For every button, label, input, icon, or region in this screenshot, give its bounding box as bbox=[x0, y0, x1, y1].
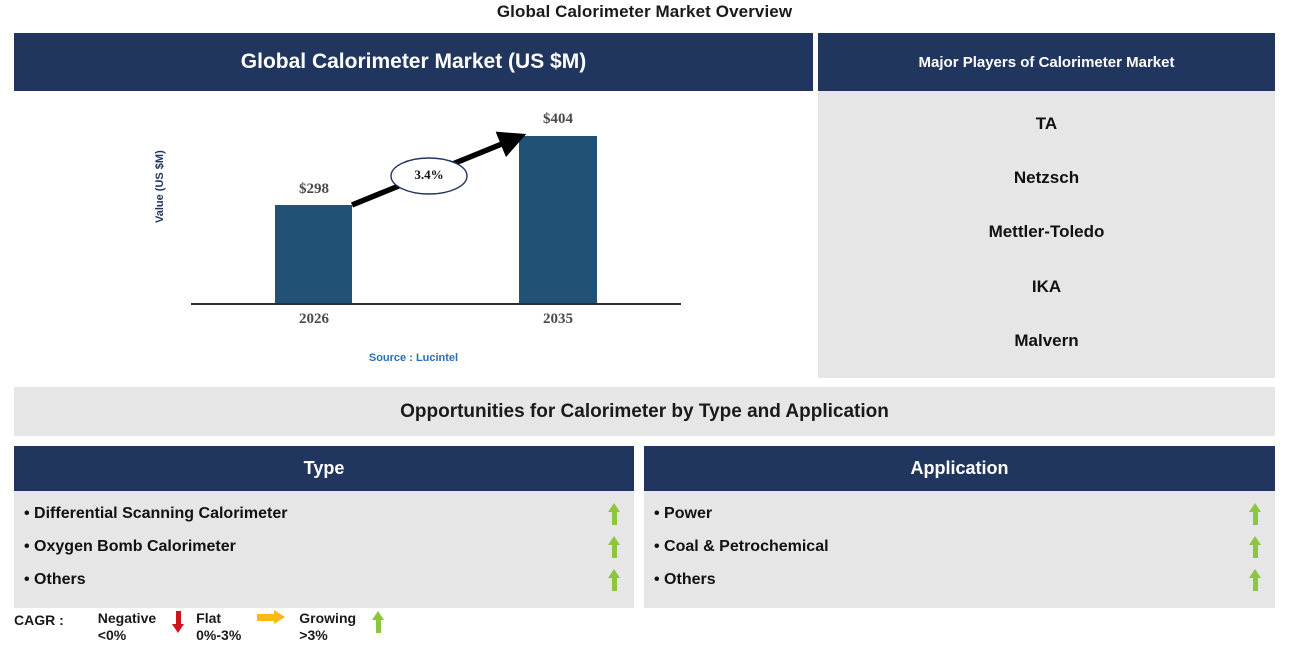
list-item: Netzsch bbox=[1014, 168, 1079, 188]
arrow-up-icon bbox=[372, 610, 384, 637]
arrow-up-icon bbox=[1249, 535, 1261, 559]
bar-value-2026: $298 bbox=[264, 181, 364, 198]
row-label: • Others bbox=[654, 571, 716, 589]
legend-text-growing: Growing >3% bbox=[299, 610, 356, 644]
type-table: Type • Differential Scanning Calorimeter… bbox=[14, 446, 634, 608]
list-item: Malvern bbox=[1014, 331, 1078, 351]
market-chart-body: Value (US $M) $298 $404 2026 2035 3.4% S… bbox=[14, 91, 813, 378]
legend-range: <0% bbox=[98, 627, 156, 644]
row-label: • Others bbox=[24, 571, 86, 589]
legend-text-negative: Negative <0% bbox=[98, 610, 156, 644]
major-players-header: Major Players of Calorimeter Market bbox=[818, 33, 1275, 91]
market-chart-panel: Global Calorimeter Market (US $M) Value … bbox=[14, 33, 813, 378]
application-table-header: Application bbox=[644, 446, 1275, 491]
type-table-body: • Differential Scanning Calorimeter • Ox… bbox=[14, 491, 634, 608]
opportunities-band-title: Opportunities for Calorimeter by Type an… bbox=[14, 387, 1275, 436]
legend-range: >3% bbox=[299, 627, 356, 644]
legend-text-flat: Flat 0%-3% bbox=[196, 610, 241, 644]
x-tick-2035: 2035 bbox=[498, 311, 618, 328]
arrow-up-icon bbox=[608, 535, 620, 559]
table-row: • Differential Scanning Calorimeter bbox=[14, 497, 634, 530]
page-title: Global Calorimeter Market Overview bbox=[0, 2, 1289, 22]
application-table-body: • Power • Coal & Petrochemical • Others bbox=[644, 491, 1275, 608]
major-players-panel: Major Players of Calorimeter Market TA N… bbox=[818, 33, 1275, 378]
legend-item-flat: Flat 0%-3% bbox=[196, 610, 251, 644]
row-label: • Oxygen Bomb Calorimeter bbox=[24, 538, 236, 556]
arrow-down-icon bbox=[172, 610, 184, 637]
bar-2035 bbox=[519, 136, 597, 303]
arrow-up-icon bbox=[608, 502, 620, 526]
y-axis-label: Value (US $M) bbox=[154, 103, 166, 223]
table-row: • Others bbox=[14, 563, 634, 596]
x-tick-2026: 2026 bbox=[254, 311, 374, 328]
legend-range: 0%-3% bbox=[196, 627, 241, 644]
row-label: • Power bbox=[654, 505, 712, 523]
table-row: • Oxygen Bomb Calorimeter bbox=[14, 530, 634, 563]
bar-2026 bbox=[275, 205, 352, 303]
arrow-right-icon bbox=[257, 610, 287, 627]
bar-value-2035: $404 bbox=[508, 111, 608, 128]
list-item: TA bbox=[1036, 114, 1057, 134]
legend-label: Growing bbox=[299, 610, 356, 627]
cagr-legend: CAGR : Negative <0% Flat 0%-3% Growing >… bbox=[14, 610, 396, 644]
list-item: Mettler-Toledo bbox=[989, 222, 1105, 242]
row-label: • Differential Scanning Calorimeter bbox=[24, 505, 287, 523]
source-note: Source : Lucintel bbox=[14, 352, 813, 364]
table-row: • Coal & Petrochemical bbox=[644, 530, 1275, 563]
cagr-legend-title: CAGR : bbox=[14, 610, 64, 628]
row-label: • Coal & Petrochemical bbox=[654, 538, 829, 556]
bar-chart: Value (US $M) $298 $404 2026 2035 3.4% S… bbox=[14, 91, 813, 378]
legend-item-negative: Negative <0% bbox=[98, 610, 166, 644]
legend-label: Negative bbox=[98, 610, 156, 627]
type-table-header: Type bbox=[14, 446, 634, 491]
legend-label: Flat bbox=[196, 610, 241, 627]
legend-item-growing: Growing >3% bbox=[299, 610, 366, 644]
table-row: • Power bbox=[644, 497, 1275, 530]
market-chart-header: Global Calorimeter Market (US $M) bbox=[14, 33, 813, 91]
major-players-list: TA Netzsch Mettler-Toledo IKA Malvern bbox=[818, 91, 1275, 378]
application-table: Application • Power • Coal & Petrochemic… bbox=[644, 446, 1275, 608]
table-row: • Others bbox=[644, 563, 1275, 596]
cagr-bubble-label: 3.4% bbox=[392, 167, 466, 183]
arrow-up-icon bbox=[1249, 502, 1261, 526]
arrow-up-icon bbox=[608, 568, 620, 592]
growth-arrow-icon bbox=[14, 91, 813, 378]
x-axis-line bbox=[191, 303, 681, 305]
arrow-up-icon bbox=[1249, 568, 1261, 592]
list-item: IKA bbox=[1032, 277, 1061, 297]
